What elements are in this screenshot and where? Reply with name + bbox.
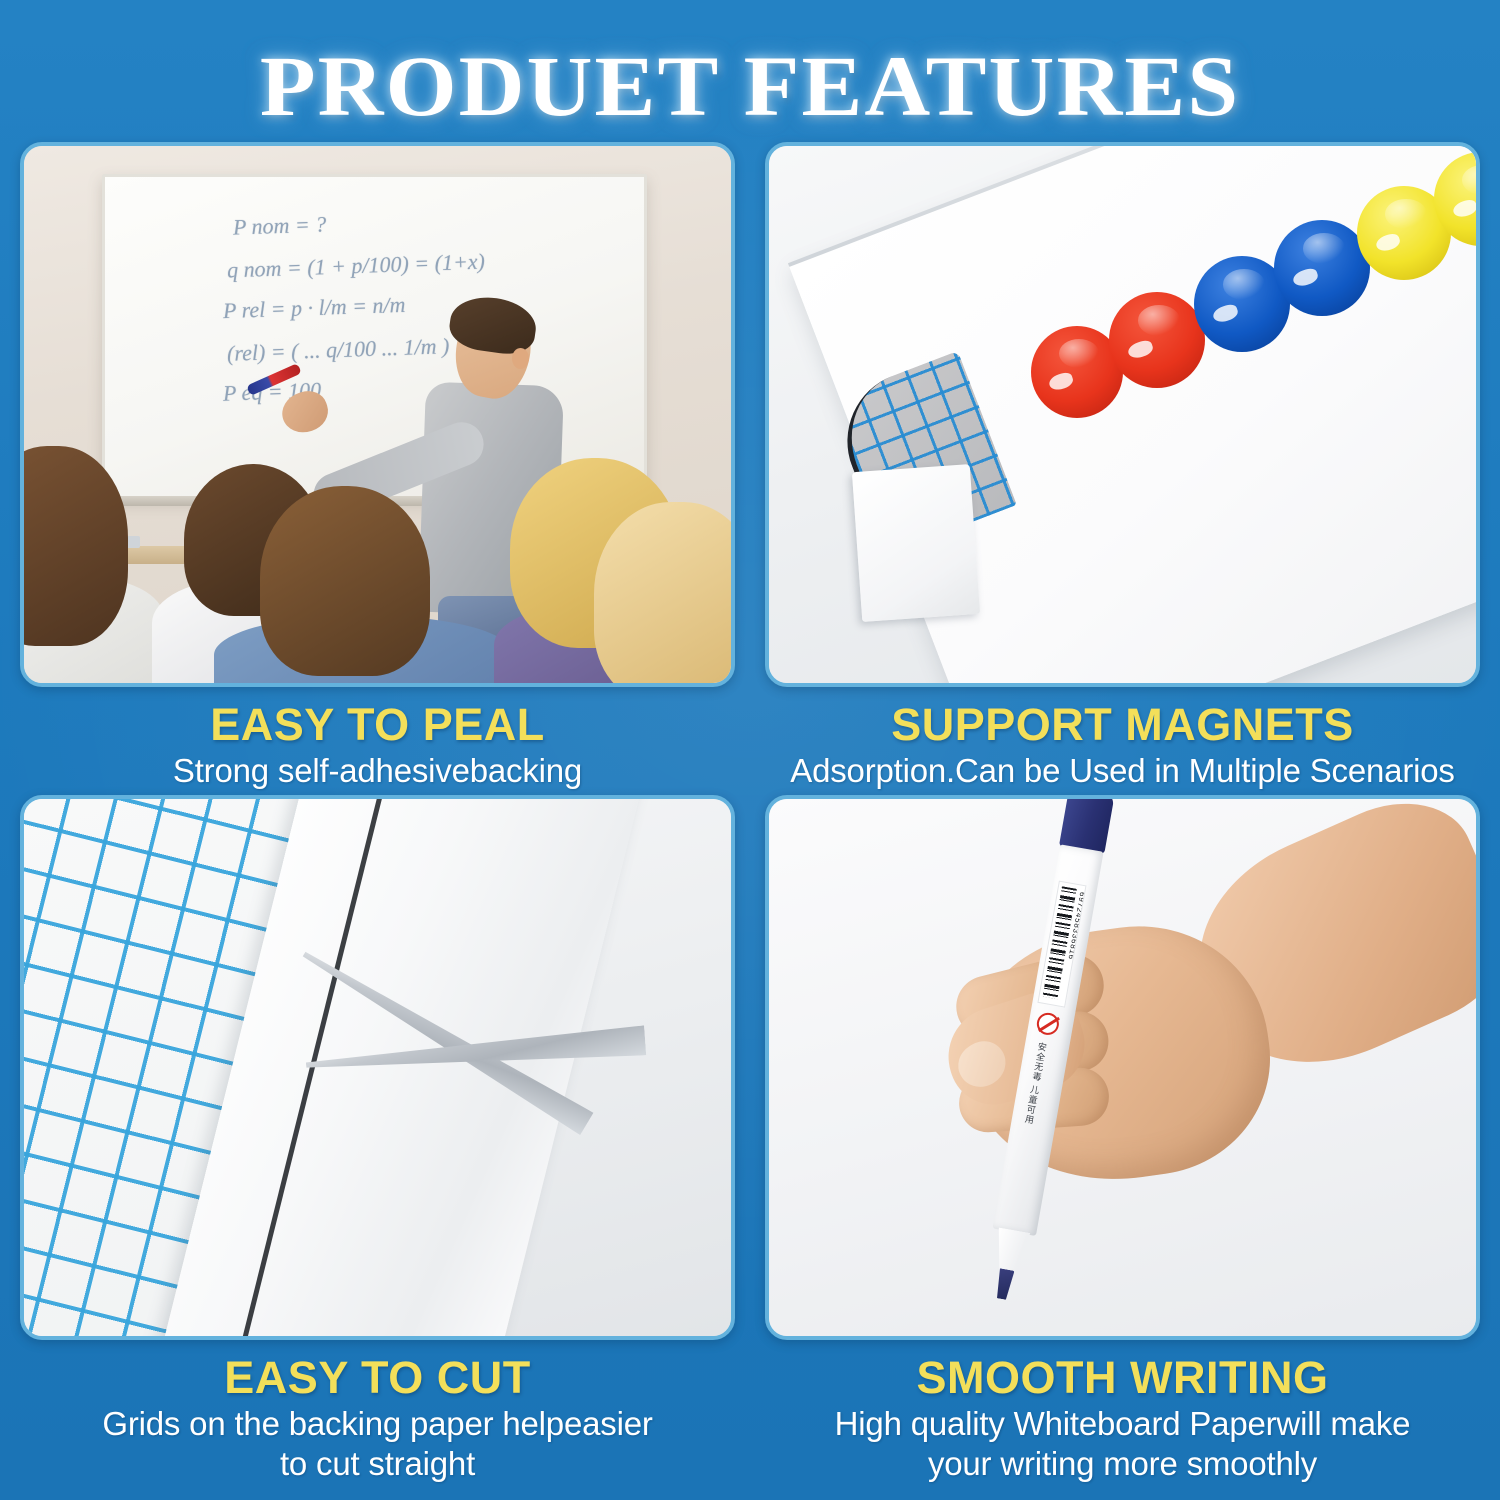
caption-title: EASY TO CUT (20, 1354, 735, 1403)
whiteboard-equation: P rel = p · l/m = n/m (223, 292, 406, 324)
whiteboard-equation: P nom = ? (233, 211, 327, 240)
caption-subtitle-line2: to cut straight (20, 1446, 735, 1483)
cutting-scene (24, 799, 731, 1336)
caption-subtitle-line1: Grids on the backing paper helpeasier (20, 1406, 735, 1443)
writing-photo: 6972458336816 安全无毒 儿童可用 (765, 795, 1480, 1340)
magnet-blue (1274, 220, 1370, 316)
caption-easy-to-peal: EASY TO PEAL Strong self-adhesivebacking (20, 687, 735, 790)
feature-card-support-magnets: SUPPORT MAGNETS Adsorption.Can be Used i… (765, 142, 1480, 790)
classroom-scene: P nom = ? q nom = (1 + p/100) = (1+x) P … (24, 146, 731, 683)
cutting-photo (20, 795, 735, 1340)
classroom-photo: P nom = ? q nom = (1 + p/100) = (1+x) P … (20, 142, 735, 687)
caption-title: SMOOTH WRITING (765, 1354, 1480, 1403)
caption-subtitle-line2: your writing more smoothly (765, 1446, 1480, 1483)
caption-subtitle-line1: High quality Whiteboard Paperwill make (765, 1406, 1480, 1443)
caption-support-magnets: SUPPORT MAGNETS Adsorption.Can be Used i… (765, 687, 1480, 790)
marker-cone (991, 1227, 1030, 1276)
marker-tip (994, 1268, 1015, 1300)
feature-card-smooth-writing: 6972458336816 安全无毒 儿童可用 SMOOTH WRITING H… (765, 795, 1480, 1483)
writing-scene: 6972458336816 安全无毒 儿童可用 (769, 799, 1476, 1336)
teacher-ear (512, 348, 529, 369)
magnets-photo (765, 142, 1480, 687)
caption-title: EASY TO PEAL (20, 701, 735, 750)
peel-flap (852, 464, 980, 622)
thumbnail (950, 1033, 1014, 1096)
page-title: PRODUET FEATURES (0, 36, 1500, 136)
caption-easy-to-cut: EASY TO CUT Grids on the backing paper h… (20, 1340, 735, 1483)
caption-title: SUPPORT MAGNETS (765, 701, 1480, 750)
caption-smooth-writing: SMOOTH WRITING High quality Whiteboard P… (765, 1340, 1480, 1483)
magnets-scene (769, 146, 1476, 683)
caption-subtitle: Strong self-adhesivebacking (20, 753, 735, 790)
caption-subtitle: Adsorption.Can be Used in Multiple Scena… (765, 753, 1480, 790)
feature-card-easy-to-peal: P nom = ? q nom = (1 + p/100) = (1+x) P … (20, 142, 735, 790)
student-head (260, 486, 430, 676)
whiteboard-equation: q nom = (1 + p/100) = (1+x) (227, 249, 486, 284)
magnet-red (1109, 292, 1205, 388)
feature-card-easy-to-cut: EASY TO CUT Grids on the backing paper h… (20, 795, 735, 1483)
features-grid: P nom = ? q nom = (1 + p/100) = (1+x) P … (20, 142, 1480, 1482)
student-head (594, 502, 731, 683)
